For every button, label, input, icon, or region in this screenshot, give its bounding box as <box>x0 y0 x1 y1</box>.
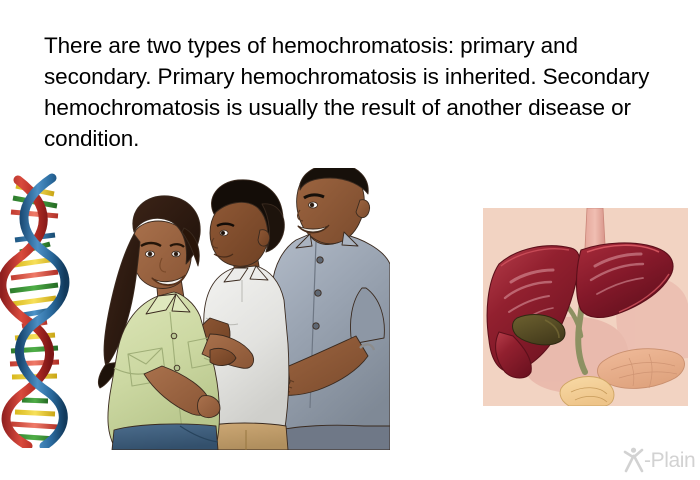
family-illustration <box>84 168 390 450</box>
info-paragraph: There are two types of hemochromatosis: … <box>44 30 666 154</box>
anatomy-svg <box>483 208 688 406</box>
x-plain-logo: -Plain <box>622 447 696 475</box>
x-figure-icon <box>622 447 646 473</box>
logo-wordmark: -Plain <box>644 449 695 473</box>
liver-anatomy-illustration <box>483 208 688 406</box>
dna-double-helix-illustration <box>0 172 72 448</box>
family-svg <box>84 168 390 450</box>
dna-svg <box>0 172 72 448</box>
